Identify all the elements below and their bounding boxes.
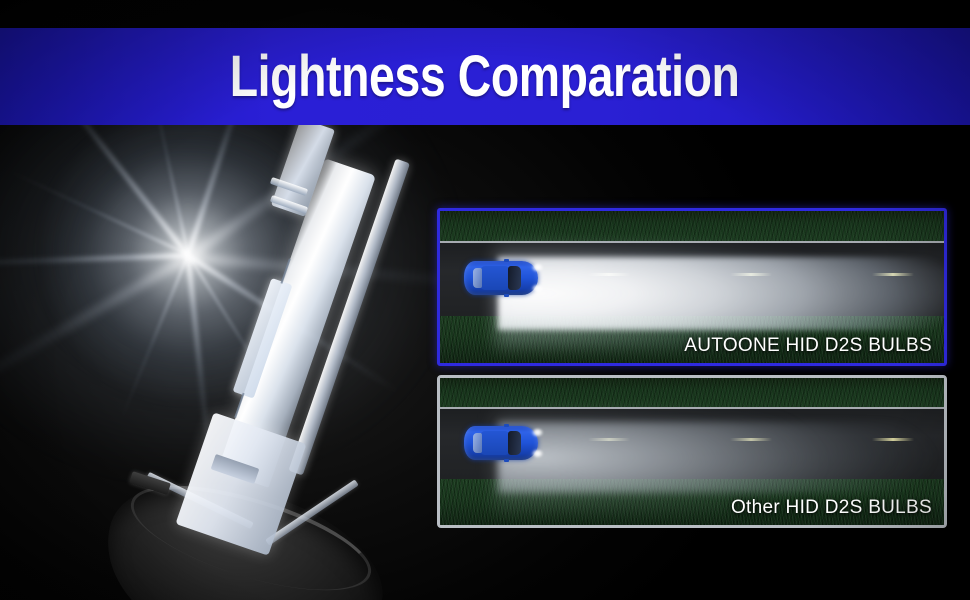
car-rear-window [473,268,482,288]
comparison-panels: AUTOONE HID D2S BULBS [437,208,949,528]
car-mirror [504,294,509,297]
page-title: Lightness Comparation [230,47,740,107]
grass-top [440,211,944,241]
car-windshield [508,431,521,455]
car-icon [464,426,538,460]
product-photo-bulb [0,125,460,600]
bulb-base-rim [120,464,382,600]
glare-ray [185,125,452,261]
bulb-strut [146,472,253,529]
lane-dash [872,438,914,441]
glow-halo-inner [38,125,338,403]
bulb-tab [129,471,171,495]
lane-dash [588,438,630,441]
car-mirror [504,424,509,427]
car-roof [480,266,510,290]
promo-image: Lightness Comparation [0,0,970,600]
panel-caption-autoone: AUTOONE HID D2S BULBS [684,335,932,357]
lane-dash [872,273,914,276]
glare-ray [186,125,265,256]
headlight-icon [532,450,543,457]
glare-ray [147,125,189,255]
car-windshield [508,266,521,290]
bulb-band [270,195,308,214]
glare-ray [187,253,399,393]
bulb-strut [265,479,358,545]
car-icon [464,261,538,295]
glare-ray [119,254,189,422]
bulb-metal-rail [288,159,410,476]
car-rear-window [473,433,482,453]
glare-ray [0,253,188,267]
bulb-collar [175,412,306,555]
bulb-collar-slot [211,454,260,484]
headlight-icon [532,264,543,271]
car-mirror [504,259,509,262]
glare-ray [186,255,215,484]
panel-caption-other: Other HID D2S BULBS [731,497,932,519]
bulb-band [270,177,308,196]
headlight-icon [532,285,543,292]
lane-dash [730,273,772,276]
bulb-glass-tube [217,158,375,488]
glare-ray [188,253,460,291]
panel-autoone[interactable]: AUTOONE HID D2S BULBS [437,208,947,366]
panel-other[interactable]: Other HID D2S BULBS [437,375,947,528]
bulb-tip [271,125,335,217]
glare-ray [0,254,190,412]
road-edge-line [440,241,944,243]
road-edge-line [440,407,944,409]
glow-halo-outer [0,125,460,513]
car-mirror [504,459,509,462]
lane-dash [730,438,772,441]
bulb-base [85,454,401,600]
glare-ray [6,169,189,256]
glare-ray [1,125,190,257]
grass-top [440,378,944,407]
night-road-scene: AUTOONE HID D2S BULBS [440,211,944,363]
lane-dash [588,273,630,276]
bulb-arc-capsule [233,278,293,399]
glare-ray [187,254,301,434]
car-roof [480,431,510,455]
night-road-scene: Other HID D2S BULBS [440,378,944,525]
bulb-assembly [120,125,450,600]
header-banner: Lightness Comparation [0,28,970,125]
headlight-icon [532,429,543,436]
